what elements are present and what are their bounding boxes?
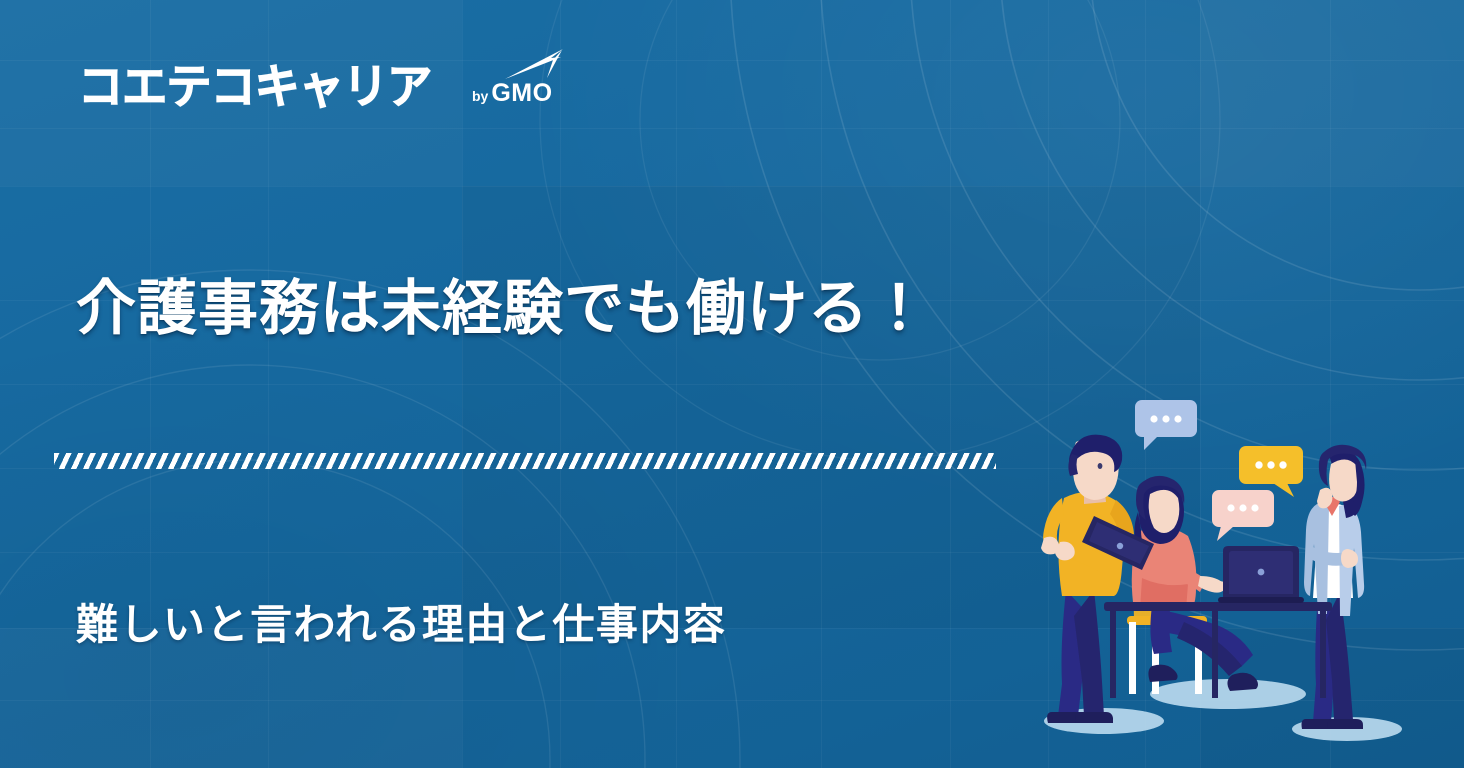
- page-title: 介護事務は未経験でも働ける！: [76, 276, 930, 343]
- bubble-pink: [1212, 490, 1274, 541]
- woman-blue-blazer-standing: [1302, 445, 1367, 729]
- team-discussion-illustration: [1032, 394, 1432, 744]
- brand-logo[interactable]: コエテコキャリア by GMO: [78, 64, 553, 111]
- banner-canvas: コエテコキャリア by GMO 介護事務は未経験でも働ける！ 難しいと言われる理…: [0, 0, 1464, 768]
- logo-kana-text: コエテコキャリア: [78, 64, 431, 111]
- laptop-on-desk: [1218, 546, 1304, 603]
- hatched-divider: [54, 453, 996, 469]
- bubble-blue: [1135, 400, 1197, 450]
- page-subtitle: 難しいと言われる理由と仕事内容: [76, 600, 726, 650]
- by-gmo-lockup: by GMO: [472, 79, 553, 108]
- by-label: by: [472, 88, 488, 104]
- gmo-wordmark: GMO: [491, 79, 552, 108]
- bubble-yellow: [1239, 446, 1303, 497]
